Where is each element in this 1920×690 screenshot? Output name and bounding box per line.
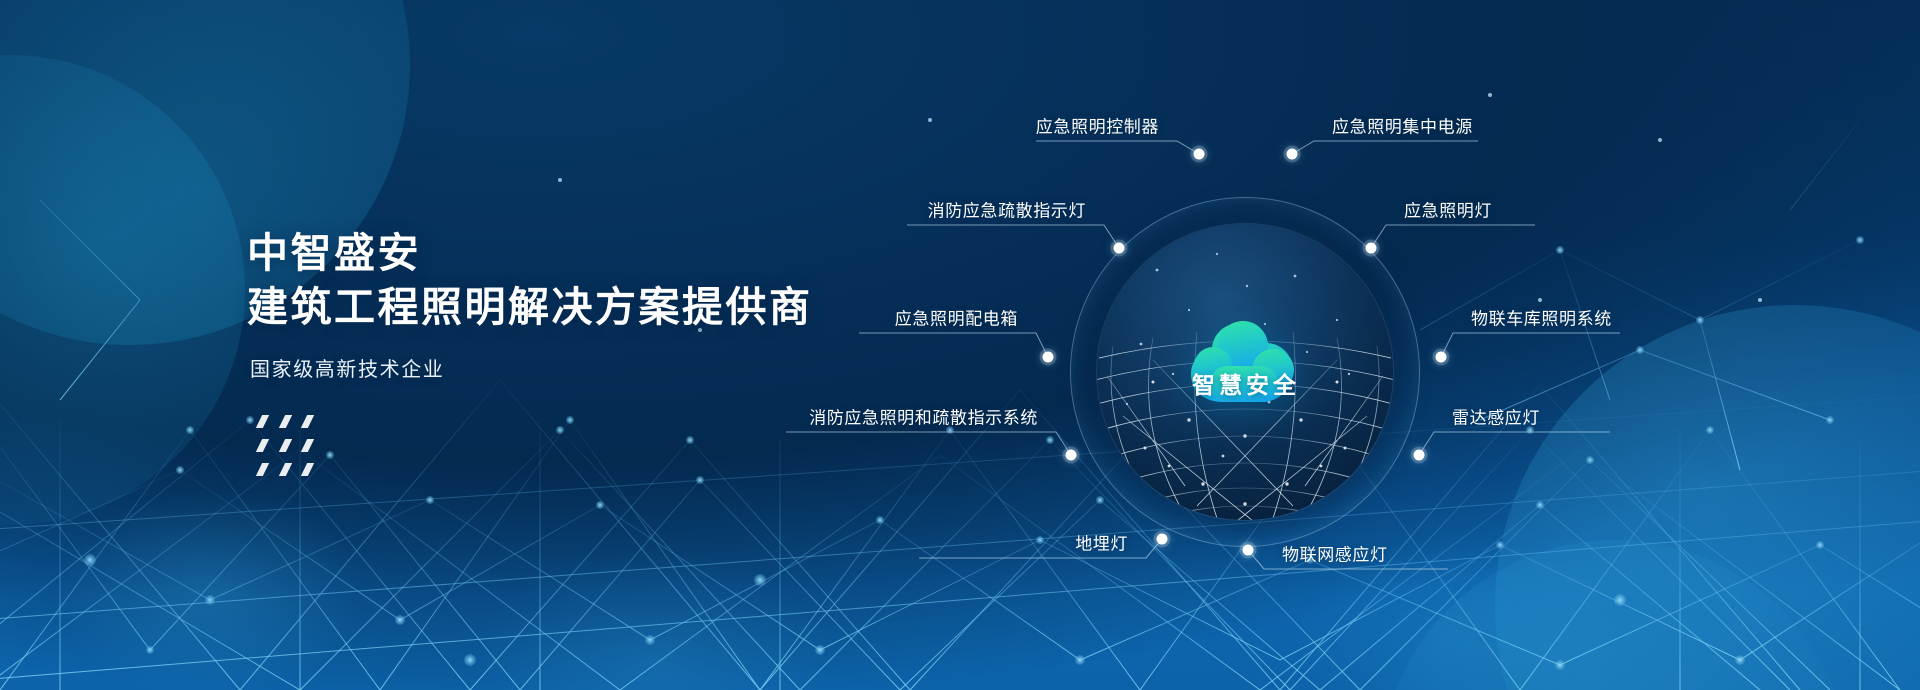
page-title: 中智盛安 建筑工程照明解决方案提供商 (247, 226, 813, 334)
decorative-circle-bottom-right-2 (1380, 540, 1850, 690)
cloud-icon (1187, 314, 1303, 404)
connector-line (1036, 141, 1199, 154)
hub-node-3[interactable] (1114, 243, 1125, 254)
hub-node-6[interactable] (1436, 352, 1447, 363)
hub-label-4[interactable]: 应急照明灯 (1404, 197, 1492, 222)
hub-label-8[interactable]: 雷达感应灯 (1452, 404, 1540, 429)
hub-label-5[interactable]: 应急照明配电箱 (895, 305, 1018, 330)
hub-node-10[interactable] (1243, 545, 1254, 556)
hub-node-8[interactable] (1414, 450, 1425, 461)
hub-node-9[interactable] (1157, 534, 1168, 545)
hub-label-9[interactable]: 地埋灯 (1075, 530, 1128, 555)
hub-node-1[interactable] (1194, 149, 1205, 160)
connector-line (786, 432, 1071, 455)
network-mesh-background (0, 0, 1920, 690)
connector-line (859, 333, 1048, 357)
hub-label-1[interactable]: 应急照明控制器 (1036, 113, 1159, 138)
subtitle: 国家级高新技术企业 (250, 353, 444, 382)
hub-node-2[interactable] (1287, 149, 1298, 160)
hub-node-4[interactable] (1366, 243, 1377, 254)
connector-line (1441, 333, 1620, 357)
bottom-glow (0, 0, 1920, 690)
title-line-2: 建筑工程照明解决方案提供商 (247, 280, 813, 334)
decorative-circle-top-left-2 (0, 55, 245, 525)
banner-stage: 中智盛安 建筑工程照明解决方案提供商 国家级高新技术企业 (0, 0, 1920, 690)
hub-label-6[interactable]: 物联车库照明系统 (1471, 305, 1612, 330)
decorative-slash-grid (259, 415, 311, 487)
hub-node-5[interactable] (1043, 352, 1054, 363)
hub-node-7[interactable] (1066, 450, 1077, 461)
label-connector-lines (0, 0, 1920, 690)
hub-label-3[interactable]: 消防应急疏散指示灯 (928, 197, 1086, 222)
hub-label-10[interactable]: 物联网感应灯 (1282, 541, 1388, 566)
connector-line (1419, 432, 1610, 455)
title-line-1: 中智盛安 (247, 226, 813, 280)
decorative-circle-bottom-right-1 (1495, 305, 1920, 690)
hub-label-7[interactable]: 消防应急照明和疏散指示系统 (809, 404, 1038, 429)
hub-label-2[interactable]: 应急照明集中电源 (1332, 113, 1473, 138)
connector-line (1292, 141, 1478, 154)
